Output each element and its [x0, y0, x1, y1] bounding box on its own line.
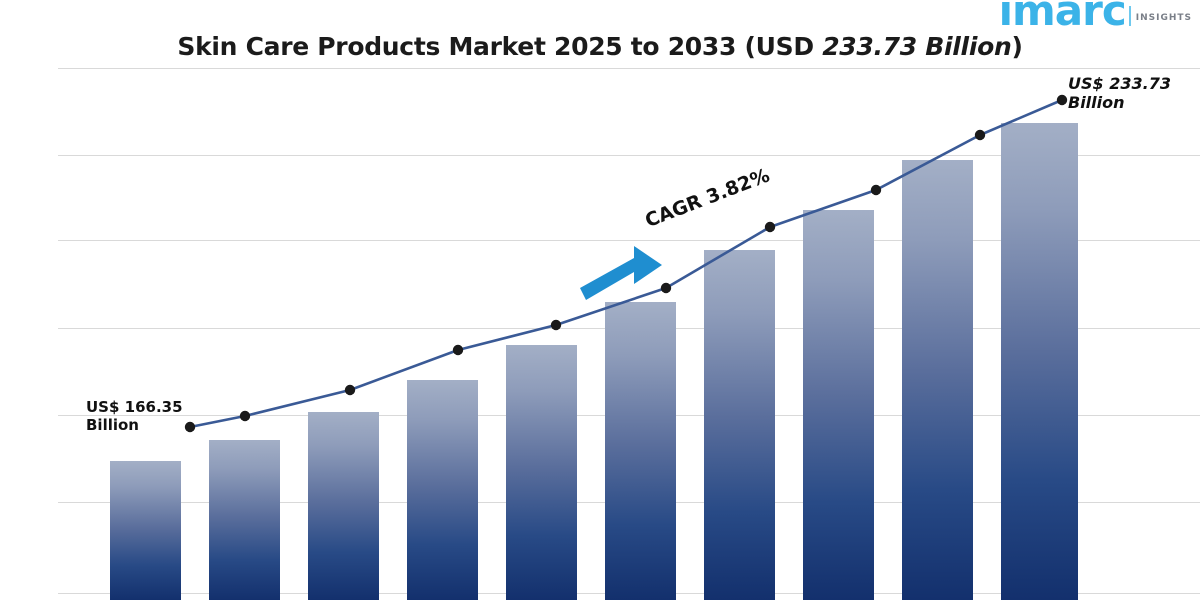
trend-marker	[240, 411, 250, 421]
trend-marker	[765, 222, 775, 232]
logo-wordmark: imarc	[999, 0, 1126, 30]
trend-marker	[871, 185, 881, 195]
trend-marker	[185, 422, 195, 432]
trend-marker	[975, 130, 985, 140]
logo-subtext: INSIGHTS	[1136, 13, 1192, 23]
chart-container: imarc INSIGHTS Skin Care Products Market…	[0, 0, 1200, 600]
imarc-logo[interactable]: imarc INSIGHTS	[999, 0, 1192, 30]
chart-title: Skin Care Products Market 2025 to 2033 (…	[0, 32, 1200, 61]
trend-marker	[661, 283, 671, 293]
trendline-group	[58, 60, 1200, 600]
trend-marker	[345, 385, 355, 395]
trend-arrow-icon	[580, 246, 662, 300]
plot-area: US$ 166.35 Billion US$ 233.73 Billion CA…	[58, 60, 1200, 600]
chart-title-value: 233.73 Billion	[822, 32, 1011, 61]
trend-marker	[551, 320, 561, 330]
chart-title-prefix: Skin Care Products Market 2025 to 2033 (…	[177, 32, 822, 61]
logo-divider-icon	[1129, 6, 1131, 26]
trend-marker	[453, 345, 463, 355]
trend-marker	[1057, 95, 1067, 105]
end-value-label: US$ 233.73 Billion	[1068, 75, 1171, 113]
chart-title-suffix: )	[1011, 32, 1022, 61]
start-value-label: US$ 166.35 Billion	[86, 399, 183, 434]
